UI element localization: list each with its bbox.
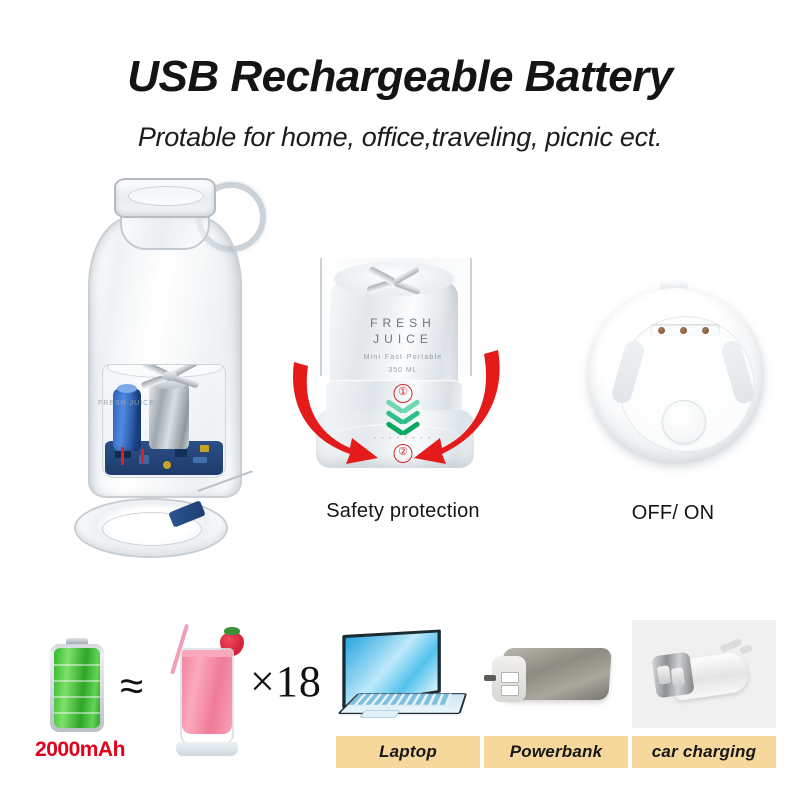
power-base-disc — [588, 288, 764, 464]
page-title: USB Rechargeable Battery — [0, 52, 800, 102]
charging-option-card: car charging — [632, 620, 776, 768]
charging-option-label-bar: Laptop — [336, 736, 480, 768]
blade-assembly-icon — [366, 270, 422, 294]
capacity-volume-label: 350 ML — [288, 367, 518, 374]
bottle-cap — [114, 178, 216, 218]
brand-line-2: JUICE — [288, 332, 518, 346]
power-button[interactable] — [662, 400, 706, 444]
smoothie-glass-icon — [164, 622, 250, 762]
safety-caption: Safety protection — [283, 500, 523, 523]
glass-base — [176, 742, 238, 756]
approx-symbol: ≈ — [120, 662, 143, 710]
charging-option-label: Laptop — [379, 742, 437, 762]
bottle-brand-embossing: FRESH JUICE — [98, 400, 155, 408]
blade-assembly — [141, 364, 199, 389]
battery-equivalence-figure: 2000mAh ≈ ×18 — [24, 600, 324, 770]
battery-charge-level — [54, 648, 100, 728]
charging-option-label: Powerbank — [510, 742, 603, 762]
battery-capacity-label: 2000mAh — [24, 738, 136, 762]
lithium-battery-cell — [113, 389, 141, 451]
laptop-icon — [336, 620, 480, 728]
safety-protection-figure: FRESH JUICE Mini·Fast·Portable 350 ML ① … — [288, 258, 518, 508]
brand-line-1: FRESH — [288, 316, 518, 330]
contact-dots: • • • • • • • • — [374, 436, 432, 442]
charging-option-label: car charging — [652, 742, 756, 762]
powerbank-icon — [484, 620, 628, 728]
blender-bottle-figure: FRESH JUICE — [58, 168, 278, 498]
charging-option-card: Laptop — [336, 620, 480, 768]
charging-contacts — [650, 324, 720, 336]
product-infographic: USB Rechargeable Battery Protable for ho… — [0, 0, 800, 800]
battery-lead-wire — [121, 447, 124, 465]
charging-option-label-bar: Powerbank — [484, 736, 628, 768]
car-charger-icon — [632, 620, 776, 728]
charging-option-card: Powerbank — [484, 620, 628, 768]
battery-icon — [50, 638, 104, 732]
step-2-marker: ② — [394, 444, 413, 463]
charging-options-row: Laptop Powerbank — [336, 620, 780, 768]
step-1-marker: ① — [394, 384, 413, 403]
bottle-internal-chamber — [102, 364, 226, 478]
brand-tagline: Mini·Fast·Portable — [288, 354, 518, 361]
battery-lead-wire — [141, 449, 144, 463]
downward-chevrons-icon — [386, 404, 420, 440]
battery-shell — [50, 644, 104, 732]
motor-housing — [149, 383, 189, 449]
charging-option-label-bar: car charging — [632, 736, 776, 768]
detachable-base-ring — [74, 498, 228, 558]
power-caption: OFF/ ON — [568, 502, 778, 525]
multiplier-label: ×18 — [250, 656, 322, 707]
glass-body — [180, 648, 234, 746]
smoothie-liquid — [182, 650, 232, 734]
power-base-figure: OFF/ ON — [578, 280, 768, 480]
page-subtitle: Protable for home, office,traveling, pic… — [0, 122, 800, 153]
